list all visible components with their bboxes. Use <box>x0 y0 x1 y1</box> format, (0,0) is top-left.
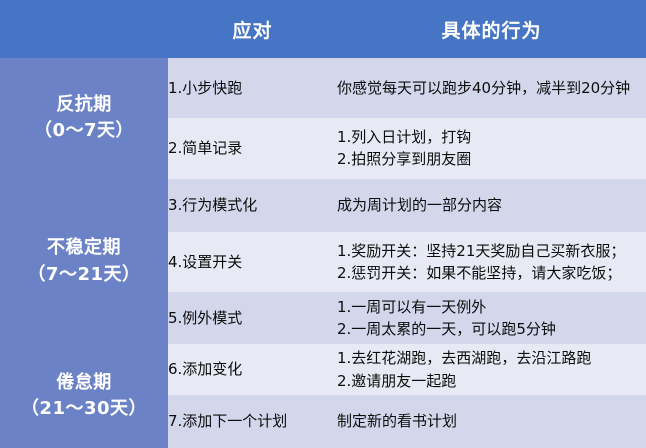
stage-range-0: （0～7天） <box>0 118 168 144</box>
behavior-cell-4: 1.一周可以有一天例外 2.一周太累的一天，可以跑5分钟 <box>337 292 646 344</box>
behavior-cell-1: 1.列入日计划，打钩 2.拍照分享到朋友圈 <box>337 118 646 178</box>
table-row: 反抗期 （0～7天） 1.小步快跑 你感觉每天可以跑步40分钟，减半到20分钟 <box>0 58 646 118</box>
table-row: 不稳定期 （7～21天） 3.行为模式化 成为周计划的一部分内容 <box>0 179 646 232</box>
behavior-line: 1.去红花湖跑，去西湖跑，去沿江路跑 <box>337 347 646 370</box>
table-header: 应对 具体的行为 <box>0 0 646 58</box>
header-cell-stage <box>0 0 168 58</box>
behavior-cell-6: 制定新的看书计划 <box>337 395 646 448</box>
stage-range-2: （21～30天） <box>0 396 168 422</box>
measure-cell-2: 3.行为模式化 <box>168 179 337 232</box>
behavior-line: 1.奖励开关：坚持21天奖励自己买新衣服； <box>337 240 646 263</box>
measure-cell-6: 7.添加下一个计划 <box>168 395 337 448</box>
behavior-line: 你感觉每天可以跑步40分钟，减半到20分钟 <box>337 77 646 100</box>
behavior-line: 制定新的看书计划 <box>337 410 646 433</box>
behavior-cell-2: 成为周计划的一部分内容 <box>337 179 646 232</box>
measure-cell-4: 5.例外模式 <box>168 292 337 344</box>
behavior-line: 2.一周太累的一天，可以跑5分钟 <box>337 318 646 341</box>
behavior-cell-0: 你感觉每天可以跑步40分钟，减半到20分钟 <box>337 58 646 118</box>
table-row: 倦怠期 （21～30天） 6.添加变化 1.去红花湖跑，去西湖跑，去沿江路跑 2… <box>0 344 646 394</box>
stage-cell-1: 不稳定期 （7～21天） <box>0 179 168 345</box>
stage-cell-2: 倦怠期 （21～30天） <box>0 344 168 448</box>
behavior-line: 1.列入日计划，打钩 <box>337 126 646 149</box>
habit-building-table: 应对 具体的行为 反抗期 （0～7天） 1.小步快跑 你感觉每天可以跑步40分钟… <box>0 0 646 448</box>
behavior-cell-5: 1.去红花湖跑，去西湖跑，去沿江路跑 2.邀请朋友一起跑 <box>337 344 646 394</box>
stage-cell-0: 反抗期 （0～7天） <box>0 58 168 179</box>
behavior-line: 成为周计划的一部分内容 <box>337 194 646 217</box>
measure-cell-1: 2.简单记录 <box>168 118 337 178</box>
behavior-cell-3: 1.奖励开关：坚持21天奖励自己买新衣服； 2.惩罚开关：如果不能坚持，请大家吃… <box>337 232 646 292</box>
table-body: 反抗期 （0～7天） 1.小步快跑 你感觉每天可以跑步40分钟，减半到20分钟 … <box>0 58 646 448</box>
header-row: 应对 具体的行为 <box>0 0 646 58</box>
header-cell-measure: 应对 <box>168 0 337 58</box>
measure-cell-0: 1.小步快跑 <box>168 58 337 118</box>
stage-name-1: 不稳定期 <box>0 235 168 261</box>
measure-cell-3: 4.设置开关 <box>168 232 337 292</box>
behavior-line: 2.邀请朋友一起跑 <box>337 370 646 393</box>
behavior-line: 2.拍照分享到朋友圈 <box>337 148 646 171</box>
behavior-line: 2.惩罚开关：如果不能坚持，请大家吃饭； <box>337 262 646 285</box>
header-cell-behavior: 具体的行为 <box>337 0 646 58</box>
measure-cell-5: 6.添加变化 <box>168 344 337 394</box>
stage-range-1: （7～21天） <box>0 262 168 288</box>
stage-name-0: 反抗期 <box>0 92 168 118</box>
stage-name-2: 倦怠期 <box>0 370 168 396</box>
behavior-line: 1.一周可以有一天例外 <box>337 296 646 319</box>
